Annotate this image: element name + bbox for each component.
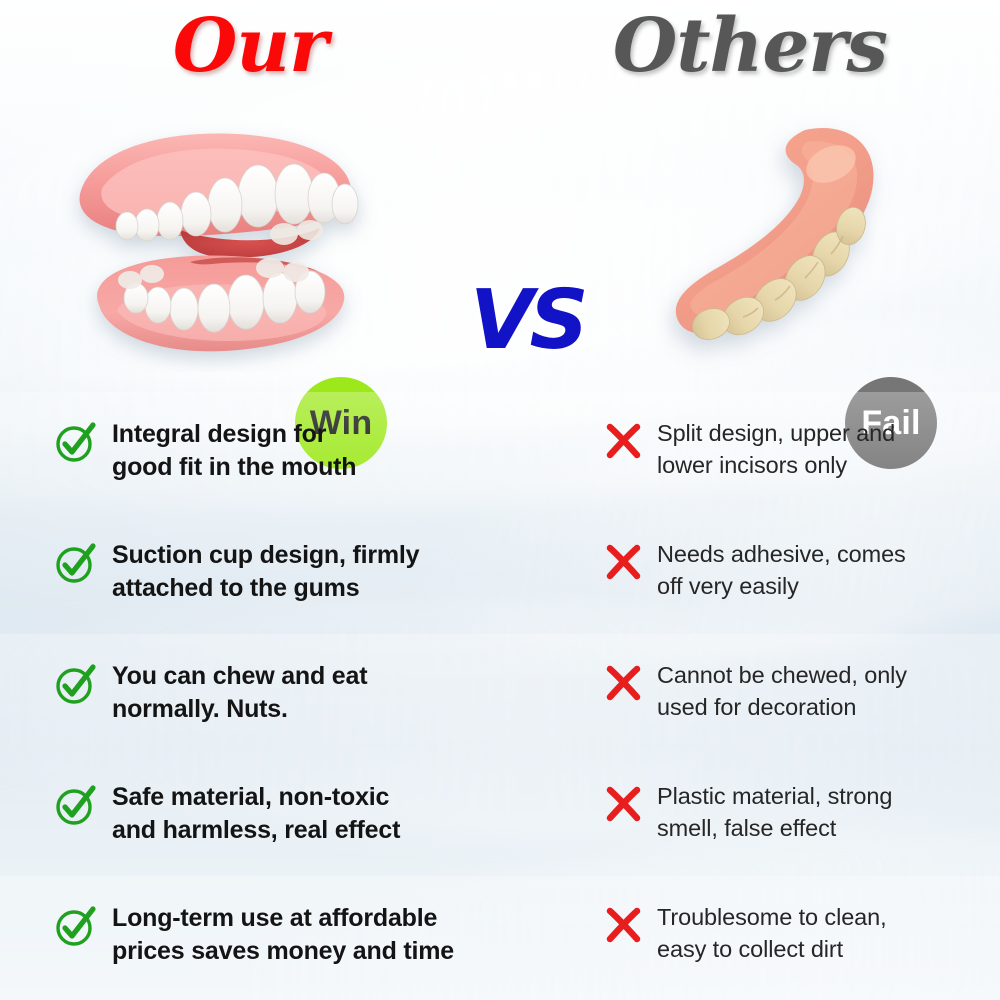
red-x-icon <box>603 784 643 824</box>
pro-item: Safe material, non-toxic and harmless, r… <box>0 755 585 876</box>
red-x-icon <box>603 421 643 461</box>
con-item: Plastic material, strong smell, false ef… <box>585 755 1000 876</box>
con-line-2: easy to collect dirt <box>657 934 887 966</box>
check-circle-icon <box>52 661 98 707</box>
pro-text: Suction cup design, firmly attached to t… <box>112 539 419 605</box>
con-item: Cannot be chewed, only used for decorati… <box>585 634 1000 755</box>
vs-label: VS <box>470 280 585 362</box>
comparison-rows: Integral design for good fit in the mout… <box>0 392 1000 1000</box>
con-line-2: smell, false effect <box>657 813 892 845</box>
pro-line-2: normally. Nuts. <box>112 693 367 726</box>
con-line-2: lower incisors only <box>657 450 895 482</box>
comparison-row: Integral design for good fit in the mout… <box>0 392 1000 513</box>
hero-section: VS Win Fail <box>0 92 1000 392</box>
red-x-icon <box>603 542 643 582</box>
con-line-1: Split design, upper and <box>657 418 895 450</box>
con-item: Troublesome to clean, easy to collect di… <box>585 876 1000 997</box>
con-item: Split design, upper and lower incisors o… <box>585 392 1000 513</box>
con-item: Needs adhesive, comes off very easily <box>585 513 1000 634</box>
header-others: Others <box>500 0 1000 92</box>
pro-line-2: good fit in the mouth <box>112 451 356 484</box>
check-circle-icon <box>52 903 98 949</box>
pro-line-1: Safe material, non-toxic <box>112 781 400 814</box>
con-text: Plastic material, strong smell, false ef… <box>657 781 892 844</box>
con-line-1: Troublesome to clean, <box>657 902 887 934</box>
pro-line-1: You can chew and eat <box>112 660 367 693</box>
pro-line-2: attached to the gums <box>112 572 419 605</box>
header-others-label: Others <box>613 9 887 83</box>
header-our-label: Our <box>173 9 327 83</box>
con-line-2: off very easily <box>657 571 906 603</box>
pro-line-2: and harmless, real effect <box>112 814 400 847</box>
pro-item: Integral design for good fit in the mout… <box>0 392 585 513</box>
pro-text: Safe material, non-toxic and harmless, r… <box>112 781 400 847</box>
check-circle-icon <box>52 540 98 586</box>
con-line-2: used for decoration <box>657 692 907 724</box>
comparison-row: Safe material, non-toxic and harmless, r… <box>0 755 1000 876</box>
check-circle-icon <box>52 419 98 465</box>
pro-text: You can chew and eat normally. Nuts. <box>112 660 367 726</box>
con-line-1: Cannot be chewed, only <box>657 660 907 692</box>
check-circle-icon <box>52 782 98 828</box>
con-line-1: Plastic material, strong <box>657 781 892 813</box>
con-line-1: Needs adhesive, comes <box>657 539 906 571</box>
con-text: Cannot be chewed, only used for decorati… <box>657 660 907 723</box>
comparison-row: Long-term use at affordable prices saves… <box>0 876 1000 997</box>
header-our: Our <box>0 0 500 92</box>
product-image-our-denture <box>62 122 392 372</box>
pro-line-1: Suction cup design, firmly <box>112 539 419 572</box>
comparison-row: Suction cup design, firmly attached to t… <box>0 513 1000 634</box>
pro-item: You can chew and eat normally. Nuts. <box>0 634 585 755</box>
con-text: Troublesome to clean, easy to collect di… <box>657 902 887 965</box>
pro-line-1: Long-term use at affordable <box>112 902 454 935</box>
pro-line-1: Integral design for <box>112 418 356 451</box>
comparison-poster: Our Others <box>0 0 1000 1000</box>
con-text: Split design, upper and lower incisors o… <box>657 418 895 481</box>
comparison-row: You can chew and eat normally. Nuts. Can… <box>0 634 1000 755</box>
con-text: Needs adhesive, comes off very easily <box>657 539 906 602</box>
red-x-icon <box>603 663 643 703</box>
red-x-icon <box>603 905 643 945</box>
pro-item: Long-term use at affordable prices saves… <box>0 876 585 997</box>
pro-line-2: prices saves money and time <box>112 935 454 968</box>
pro-text: Long-term use at affordable prices saves… <box>112 902 454 968</box>
pro-text: Integral design for good fit in the mout… <box>112 418 356 484</box>
product-image-others-denture <box>655 112 945 382</box>
pro-item: Suction cup design, firmly attached to t… <box>0 513 585 634</box>
